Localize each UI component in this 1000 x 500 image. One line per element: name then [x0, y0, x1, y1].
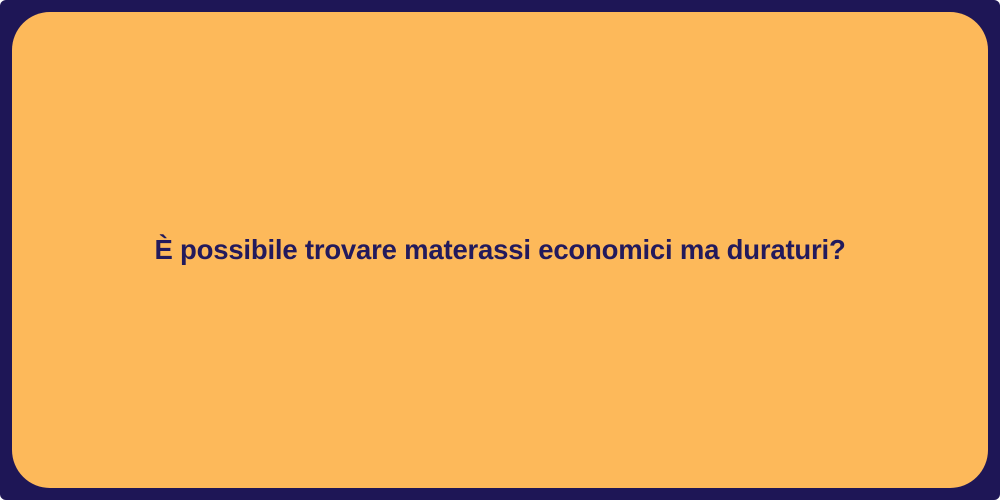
banner-frame: È possibile trovare materassi economici … [0, 0, 1000, 500]
headline-text: È possibile trovare materassi economici … [114, 233, 885, 267]
banner-card: È possibile trovare materassi economici … [12, 12, 988, 488]
